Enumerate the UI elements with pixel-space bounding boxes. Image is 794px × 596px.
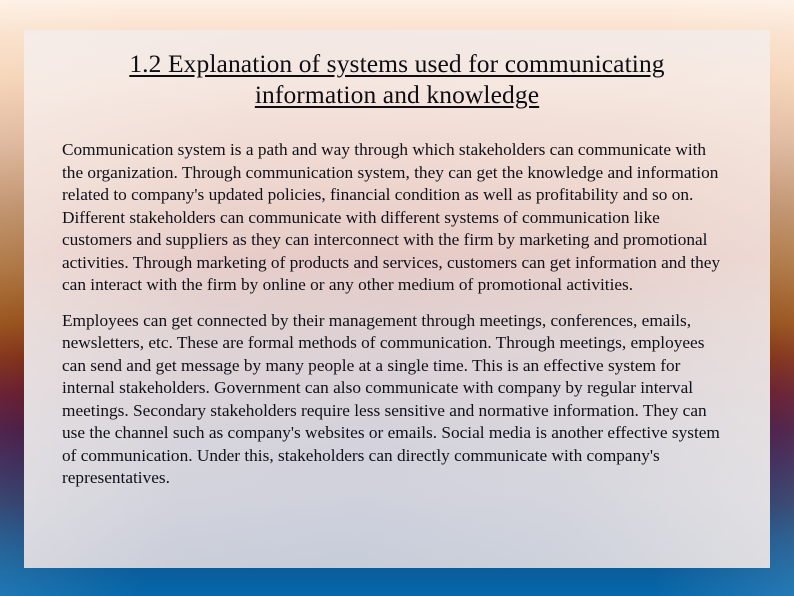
slide-canvas: 1.2 Explanation of systems used for comm… — [0, 0, 794, 596]
slide-title: 1.2 Explanation of systems used for comm… — [24, 30, 770, 110]
slide-title-line-1: 1.2 Explanation of systems used for comm… — [129, 49, 664, 78]
slide-title-line-2: information and knowledge — [255, 80, 539, 109]
body-paragraph-2: Employees can get connected by their man… — [62, 310, 726, 490]
panel-inner: 1.2 Explanation of systems used for comm… — [24, 30, 770, 568]
body-paragraph-1: Communication system is a path and way t… — [62, 139, 726, 297]
content-panel: 1.2 Explanation of systems used for comm… — [24, 30, 770, 568]
slide-body: Communication system is a path and way t… — [24, 139, 770, 490]
